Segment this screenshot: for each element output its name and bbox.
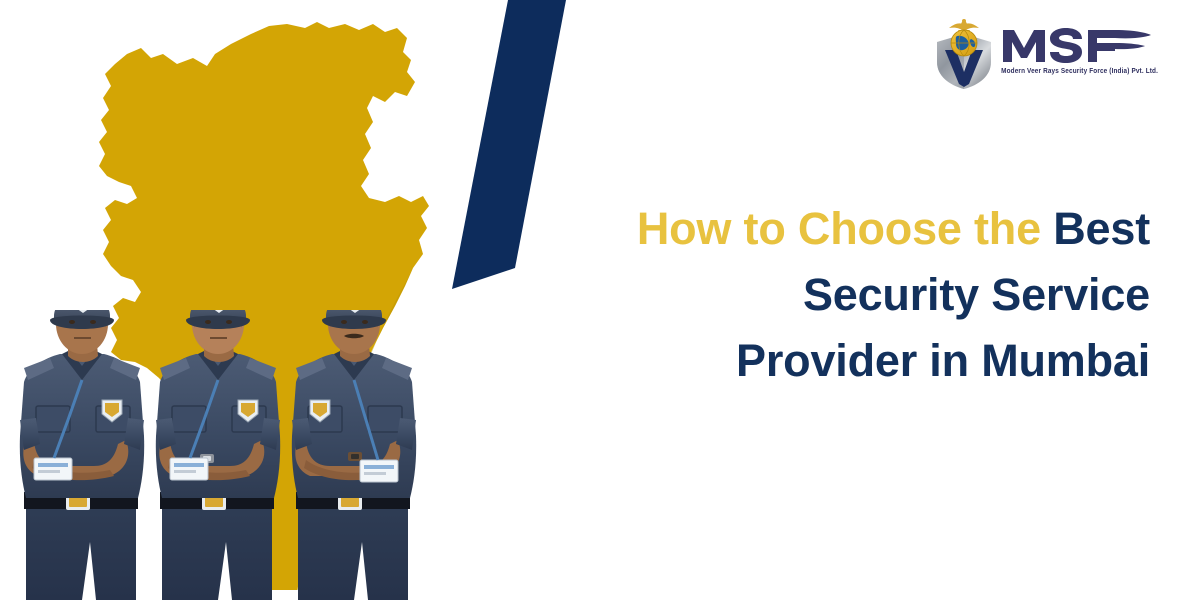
headline-highlight: How to Choose the	[637, 203, 1041, 254]
logo-tagline: Modern Veer Rays Security Force (India) …	[1001, 67, 1158, 75]
msf-shield-globe-eagle-logo-icon	[931, 16, 997, 90]
msf-wordmark	[1001, 24, 1153, 66]
headline-line-1-rest: Best	[1053, 203, 1150, 254]
headline-line-2: Security Service	[590, 262, 1150, 328]
msf-logo[interactable]: Modern Veer Rays Security Force (India) …	[931, 16, 1158, 94]
page-title: How to Choose the Best Security Service …	[590, 196, 1150, 394]
promotional-banner: How to Choose the Best Security Service …	[0, 0, 1200, 600]
three-security-guards-photo	[10, 310, 440, 600]
headline-line-1: How to Choose the Best	[590, 196, 1150, 262]
logo-text-block: Modern Veer Rays Security Force (India) …	[1001, 16, 1158, 74]
headline-line-3: Provider in Mumbai	[590, 328, 1150, 394]
